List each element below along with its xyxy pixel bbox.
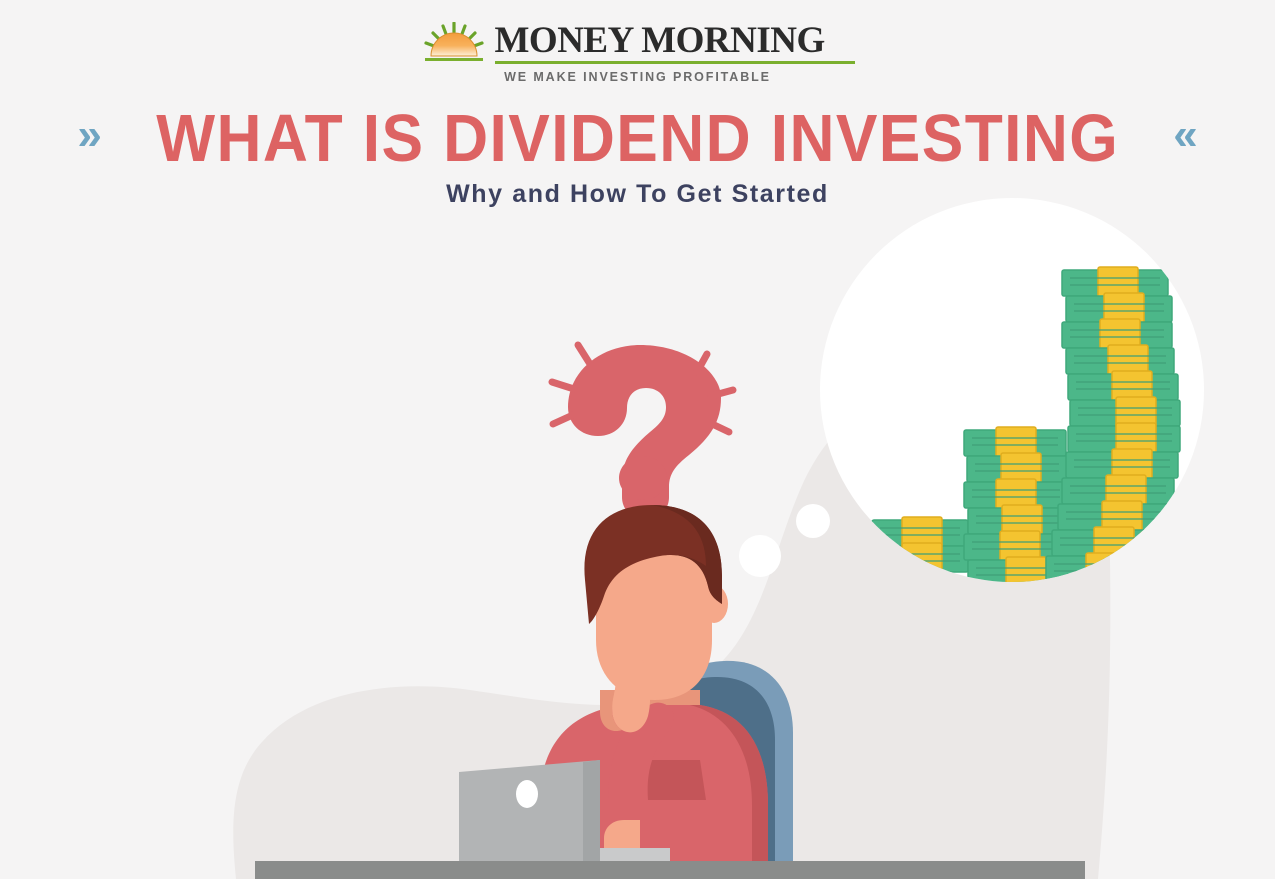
bubble-dot-large	[796, 504, 830, 538]
laptop-base	[600, 848, 670, 862]
desk	[255, 861, 1085, 879]
laptop-lid-edge	[583, 760, 600, 862]
logo-underline	[495, 61, 855, 64]
chevron-left-icon: »	[77, 113, 101, 157]
laptop-lid	[459, 760, 600, 862]
page-title-row: » WHAT IS DIVIDEND INVESTING «	[0, 105, 1275, 172]
logo-wordmark: MONEY MORNING	[495, 23, 855, 58]
logo-tagline: WE MAKE INVESTING PROFITABLE	[504, 70, 771, 84]
sunrise-icon	[421, 22, 487, 64]
page-title: WHAT IS DIVIDEND INVESTING	[156, 105, 1119, 172]
bubble-dot-small	[739, 535, 781, 577]
infographic-canvas: MONEY MORNING WE MAKE INVESTING PROFITAB…	[0, 0, 1275, 879]
page-subtitle: Why and How To Get Started	[0, 180, 1275, 209]
site-logo[interactable]: MONEY MORNING WE MAKE INVESTING PROFITAB…	[0, 22, 1275, 84]
laptop-logo-icon	[516, 780, 538, 808]
chevron-right-icon: «	[1173, 113, 1197, 157]
